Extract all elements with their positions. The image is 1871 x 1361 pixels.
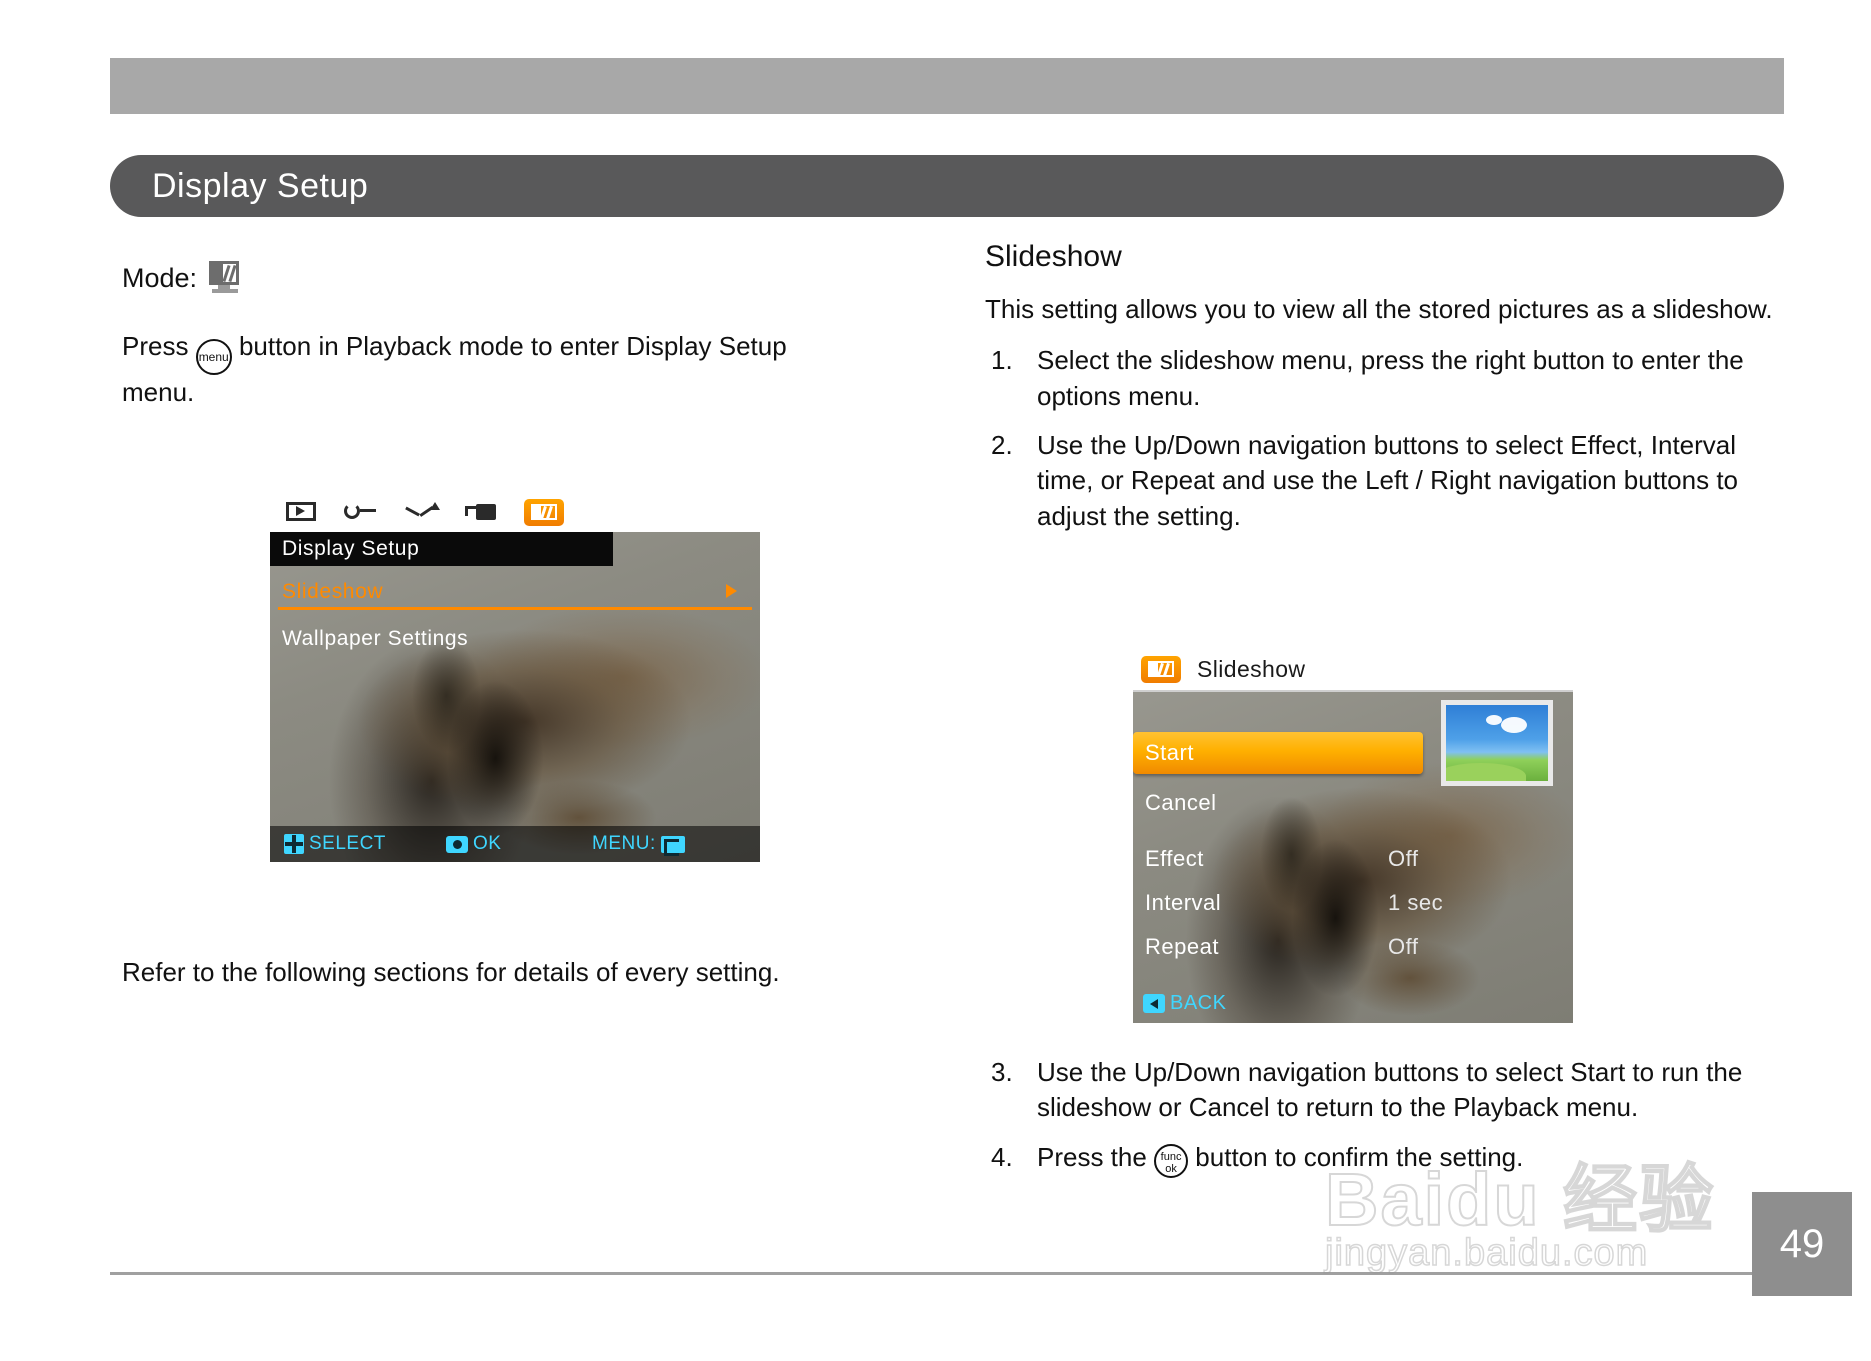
list-item: 1. Select the slideshow menu, press the … bbox=[985, 343, 1785, 414]
watermark-sub-text: jingyan.baidu.com bbox=[1325, 1232, 1648, 1275]
display-setup-icon[interactable] bbox=[524, 499, 564, 526]
list-item: 2. Use the Up/Down navigation buttons to… bbox=[985, 428, 1785, 534]
status-ok: OK bbox=[446, 833, 501, 855]
slideshow-back-label: BACK bbox=[1170, 992, 1226, 1015]
page-number-badge: 49 bbox=[1752, 1192, 1852, 1296]
slideshow-intro-text: This setting allows you to view all the … bbox=[985, 292, 1785, 327]
step-number: 1. bbox=[991, 343, 1013, 378]
step-text-after: button to confirm the setting. bbox=[1195, 1142, 1523, 1172]
slideshow-row-repeat[interactable]: Repeat Off bbox=[1133, 926, 1573, 968]
lcd-status-bar: SELECT OK MENU: bbox=[270, 826, 760, 862]
page-title: Display Setup bbox=[110, 167, 368, 206]
ok-button-icon bbox=[446, 836, 468, 853]
lcd-menu-title: Display Setup bbox=[270, 532, 613, 566]
top-decorative-bar bbox=[110, 58, 1784, 114]
back-arrow-icon bbox=[1143, 994, 1165, 1013]
func-ok-line2: ok bbox=[1156, 1163, 1186, 1175]
step-text: Use the Up/Down navigation buttons to se… bbox=[1037, 1057, 1742, 1122]
slideshow-row-effect[interactable]: Effect Off bbox=[1133, 838, 1573, 880]
step-number: 2. bbox=[991, 428, 1013, 463]
menu-button-icon: menu bbox=[196, 339, 232, 375]
section-title-slideshow: Slideshow bbox=[985, 240, 1785, 274]
refer-instruction: Refer to the following sections for deta… bbox=[122, 955, 882, 991]
slideshow-row-label: Repeat bbox=[1133, 934, 1219, 960]
slideshow-row-interval[interactable]: Interval 1 sec bbox=[1133, 882, 1573, 924]
lcd-slideshow-screen: Slideshow Start Cancel Effect Off Interv… bbox=[1133, 648, 1573, 1023]
step-text: Use the Up/Down navigation buttons to se… bbox=[1037, 430, 1738, 531]
slideshow-row-cancel[interactable]: Cancel bbox=[1133, 782, 1573, 824]
left-column: Mode: Press menu button in Playback mode… bbox=[122, 255, 822, 411]
display-setup-icon bbox=[1141, 656, 1181, 683]
lcd-display-setup-screen: Display Setup Slideshow Wallpaper Settin… bbox=[270, 492, 760, 862]
step-number: 4. bbox=[991, 1140, 1013, 1175]
lcd-selection-rule bbox=[278, 607, 752, 610]
slideshow-row-label: Interval bbox=[1133, 890, 1221, 916]
mode-line: Mode: bbox=[122, 255, 822, 301]
display-setup-mode-icon bbox=[209, 261, 243, 295]
curve-icon[interactable] bbox=[404, 500, 438, 524]
func-ok-button-icon: func ok bbox=[1154, 1144, 1188, 1178]
slideshow-row-label: Start bbox=[1133, 740, 1194, 766]
lcd-tab-icon-row bbox=[270, 492, 760, 532]
slideshow-preview-thumbnail bbox=[1441, 700, 1553, 786]
list-item: 4. Press the func ok button to confirm t… bbox=[985, 1140, 1785, 1178]
press-menu-instruction: Press menu button in Playback mode to en… bbox=[122, 329, 822, 411]
chevron-right-icon bbox=[726, 584, 737, 598]
mode-label: Mode: bbox=[122, 263, 197, 294]
lcd-menu-item-wallpaper-settings[interactable]: Wallpaper Settings bbox=[282, 627, 468, 651]
footer-divider bbox=[110, 1272, 1784, 1275]
slideshow-row-start[interactable]: Start bbox=[1133, 732, 1423, 774]
slideshow-steps-list-bottom: 3. Use the Up/Down navigation buttons to… bbox=[985, 1055, 1785, 1178]
slideshow-row-value: Off bbox=[1388, 846, 1418, 872]
slideshow-steps-list-top: 1. Select the slideshow menu, press the … bbox=[985, 343, 1785, 534]
rotate-icon[interactable] bbox=[344, 500, 378, 524]
menu-glyph-icon bbox=[661, 836, 685, 853]
list-item: 3. Use the Up/Down navigation buttons to… bbox=[985, 1055, 1785, 1126]
status-menu: MENU: bbox=[592, 833, 685, 855]
status-menu-label: MENU: bbox=[592, 833, 656, 855]
slideshow-row-value: 1 sec bbox=[1388, 890, 1443, 916]
delete-icon[interactable] bbox=[464, 500, 498, 524]
playback-icon[interactable] bbox=[284, 500, 318, 524]
page-header-bar: Display Setup bbox=[110, 155, 1784, 217]
slideshow-topbar: Slideshow bbox=[1133, 648, 1573, 692]
lcd-menu-item-slideshow[interactable]: Slideshow bbox=[282, 580, 383, 604]
dpad-icon bbox=[284, 834, 304, 854]
step-text-before: Press the bbox=[1037, 1142, 1147, 1172]
slideshow-row-value: Off bbox=[1388, 934, 1418, 960]
slideshow-back-control[interactable]: BACK bbox=[1143, 992, 1226, 1015]
status-select-label: SELECT bbox=[309, 833, 386, 855]
status-select: SELECT bbox=[284, 833, 386, 855]
slideshow-row-label: Effect bbox=[1133, 846, 1204, 872]
status-ok-label: OK bbox=[473, 833, 501, 855]
press-text-before: Press bbox=[122, 331, 188, 361]
right-column: Slideshow This setting allows you to vie… bbox=[985, 240, 1785, 548]
func-ok-line1: func bbox=[1156, 1151, 1186, 1163]
step-text: Select the slideshow menu, press the rig… bbox=[1037, 345, 1744, 410]
slideshow-menu-title: Slideshow bbox=[1197, 656, 1305, 683]
step-number: 3. bbox=[991, 1055, 1013, 1090]
slideshow-row-label: Cancel bbox=[1133, 790, 1216, 816]
